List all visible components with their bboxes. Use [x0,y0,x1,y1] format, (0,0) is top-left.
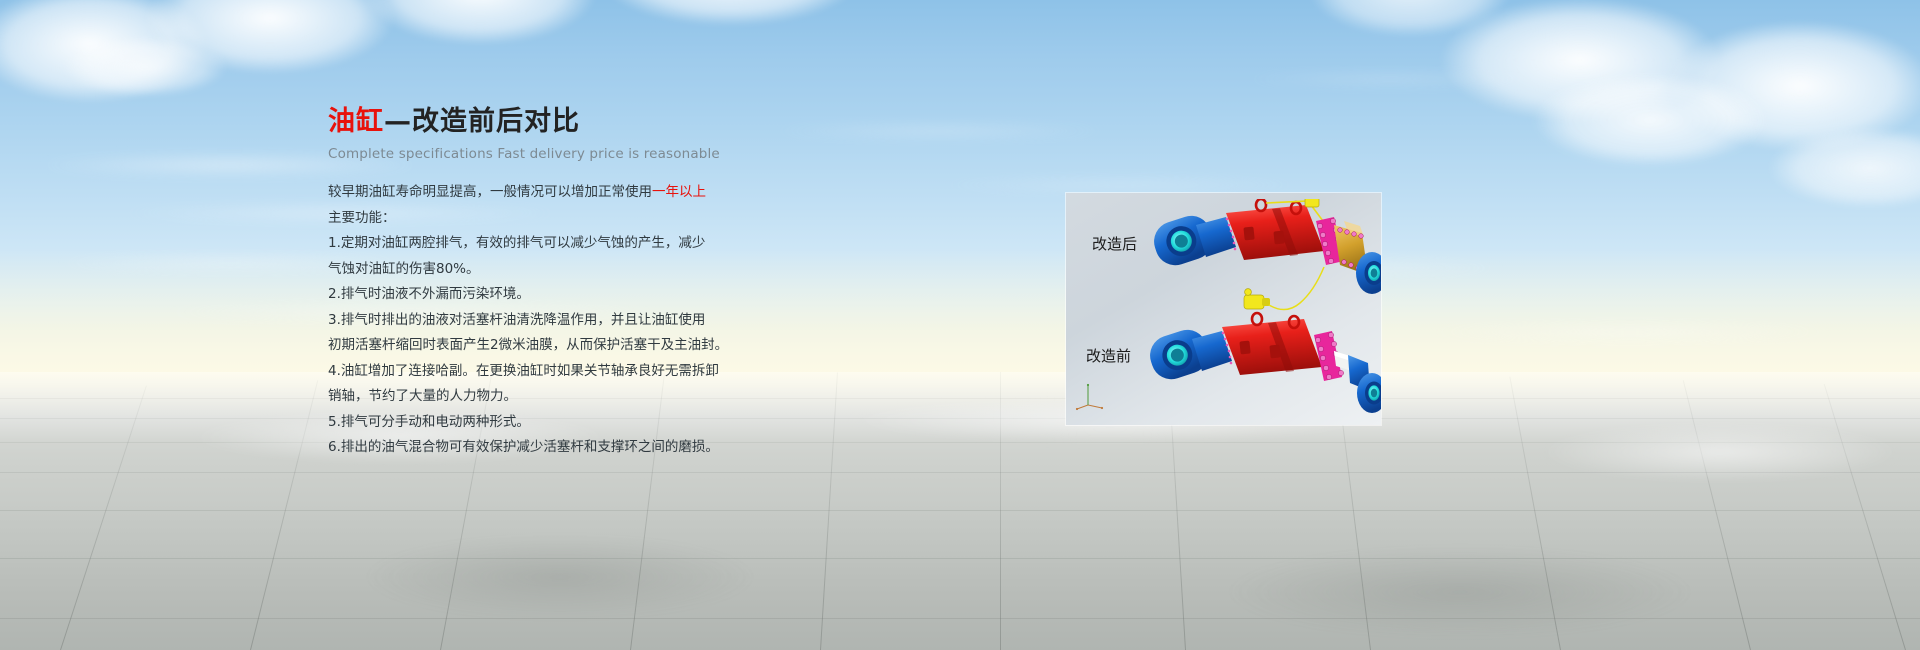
body-line-text: 3.排气时排出的油液对活塞杆油清洗降温作用，并且让油缸使用 [328,312,705,328]
body-line-text: 6.排出的油气混合物可有效保护减少活塞杆和支撑环之间的磨损。 [328,439,719,455]
body-line-text: 4.油缸增加了连接哈副。在更换油缸时如果关节轴承良好无需拆卸 [328,363,719,379]
page-title: 油缸—改造前后对比 [328,106,848,137]
body-line-text: 主要功能： [328,210,396,226]
body-line: 4.油缸增加了连接哈副。在更换油缸时如果关节轴承良好无需拆卸 [328,359,848,385]
body-text-block: 较早期油缸寿命明显提高，一般情况可以增加正常使用一年以上 主要功能： 1.定期对… [328,180,848,461]
title-rest: —改造前后对比 [384,106,580,137]
pavement-joint-horizontal [0,510,1920,511]
cad-label-before: 改造前 [1086,345,1131,366]
body-line: 5.排气可分手动和电动两种形式。 [328,410,848,436]
cloud-puff [40,10,250,105]
cylinder-before-illustration [1144,311,1381,425]
banner-copy: 油缸—改造前后对比 Complete specifications Fast d… [328,106,848,461]
coordinate-axis-triad [1074,381,1108,411]
banner-stage: 油缸—改造前后对比 Complete specifications Fast d… [0,0,1920,650]
body-line: 6.排出的油气混合物可有效保护减少活塞杆和支撑环之间的磨损。 [328,435,848,461]
body-line-text: 2.排气时油液不外漏而污染环境。 [328,286,530,302]
body-line: 初期活塞杆缩回时表面产生2微米油膜，从而保护活塞干及主油封。 [328,333,848,359]
page-subtitle: Complete specifications Fast delivery pr… [328,146,848,162]
cloud-streak [1180,70,1600,88]
pavement-shade [1150,532,1770,650]
body-line-text: 5.排气可分手动和电动两种形式。 [328,414,530,430]
body-line: 销轴，节约了大量的人力物力。 [328,384,848,410]
cloud-streak [860,175,1380,195]
cad-comparison-panel: 改造后 改造前 [1066,193,1381,425]
body-line-highlight: 一年以上 [652,184,706,200]
pavement-shade [300,522,820,632]
pavement-background [0,372,1920,650]
cylinder-after-illustration [1148,199,1381,321]
body-line: 1.定期对油缸两腔排气，有效的排气可以减少气蚀的产生，减少 [328,231,848,257]
pavement-sheen [1480,412,1920,492]
body-line: 气蚀对油缸的伤害80%。 [328,257,848,283]
body-line: 较早期油缸寿命明显提高，一般情况可以增加正常使用一年以上 [328,180,848,206]
body-line-text: 较早期油缸寿命明显提高，一般情况可以增加正常使用 [328,184,652,200]
body-line: 2.排气时油液不外漏而污染环境。 [328,282,848,308]
cad-label-after: 改造后 [1092,233,1137,254]
body-line-text: 1.定期对油缸两腔排气，有效的排气可以减少气蚀的产生，减少 [328,235,705,251]
body-line-text: 初期活塞杆缩回时表面产生2微米油膜，从而保护活塞干及主油封。 [328,337,728,353]
body-line: 主要功能： [328,206,848,232]
body-line-text: 气蚀对油缸的伤害80%。 [328,261,480,277]
cloud-streak [1340,320,1920,344]
title-highlight: 油缸 [328,106,384,137]
body-line: 3.排气时排出的油液对活塞杆油清洗降温作用，并且让油缸使用 [328,308,848,334]
body-line-text: 销轴，节约了大量的人力物力。 [328,388,517,404]
